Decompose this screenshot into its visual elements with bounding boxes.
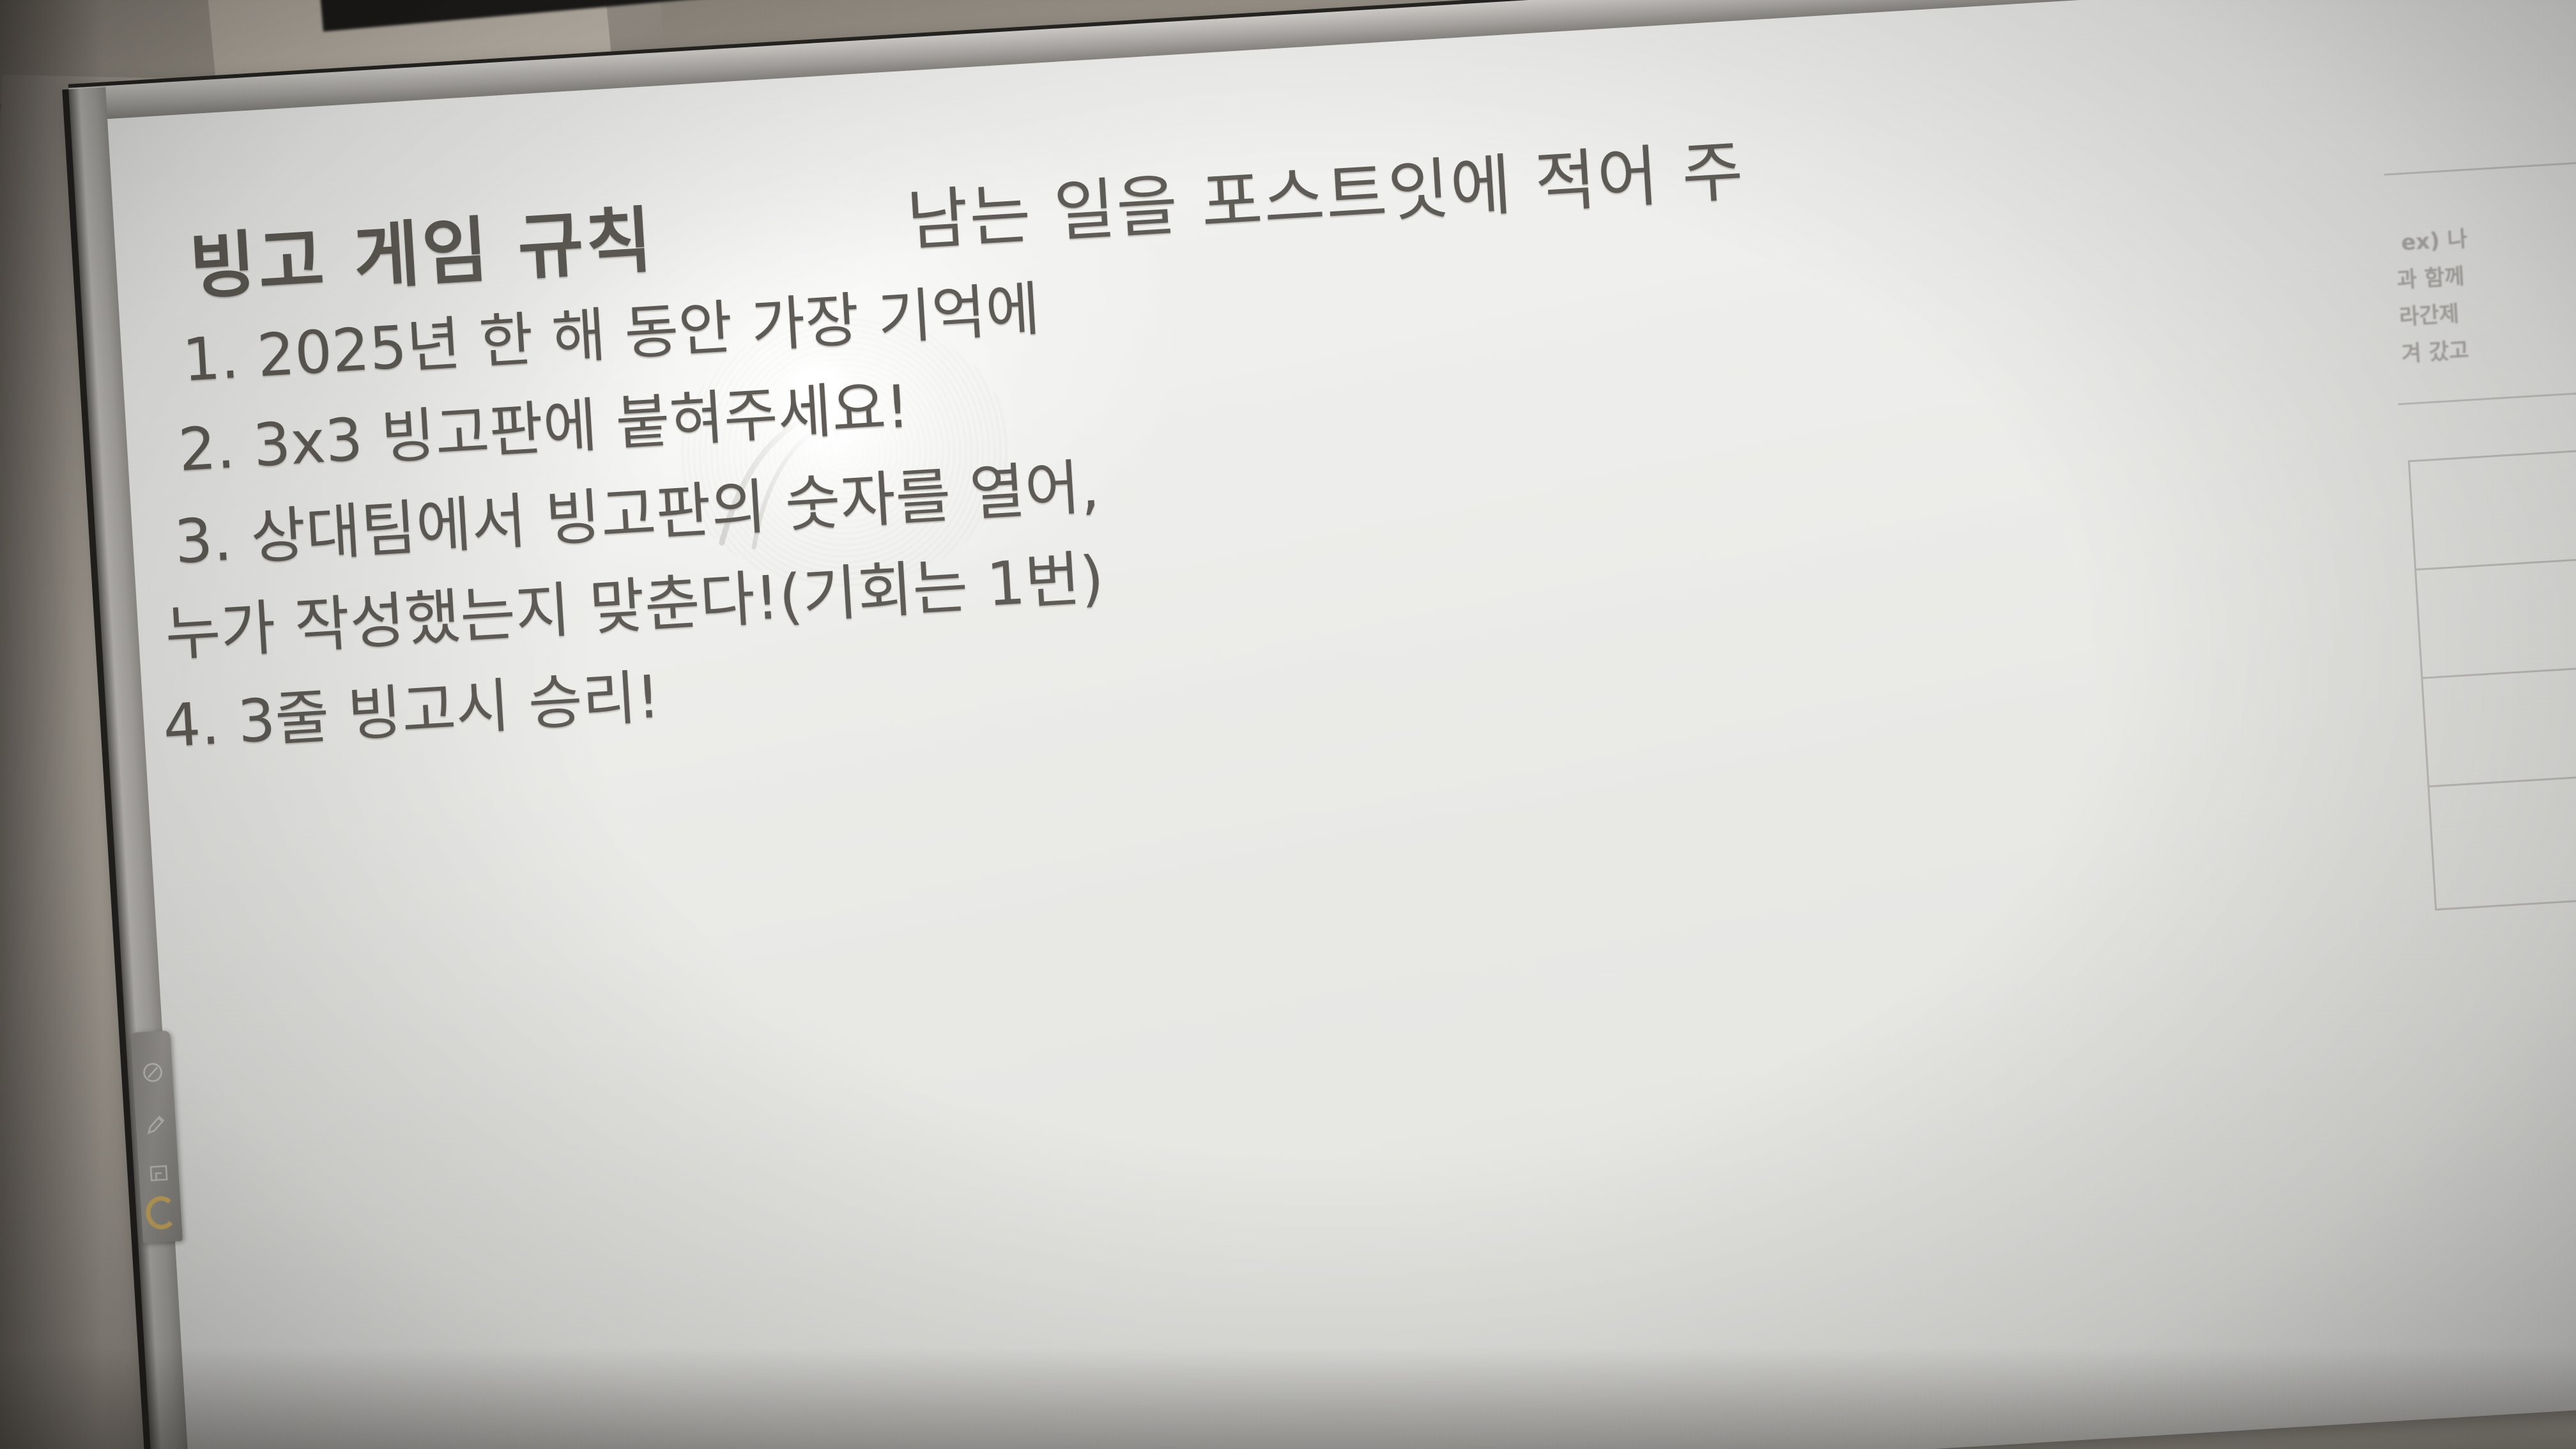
board-text-block: 빙고 게임 규칙 남는 일을 포스트잇에 적어 주 1. 2025년 한 해 동… bbox=[107, 0, 2576, 1449]
board-headline: 남는 일을 포스트잇에 적어 주 bbox=[904, 116, 1747, 263]
whiteboard-photo-scene: 빙고 게임 규칙 남는 일을 포스트잇에 적어 주 1. 2025년 한 해 동… bbox=[0, 0, 2576, 1449]
sheet-line-1: ex) 나 bbox=[2400, 221, 2468, 256]
status-led bbox=[145, 1195, 178, 1230]
sheet-line-4: 겨 갔고 bbox=[2400, 332, 2469, 367]
whiteboard: 빙고 게임 규칙 남는 일을 포스트잇에 적어 주 1. 2025년 한 해 동… bbox=[64, 0, 2576, 1449]
eraser-icon[interactable] bbox=[147, 1161, 171, 1185]
sheet-line-2: 과 함께 bbox=[2396, 259, 2465, 294]
sheet-divider-mid bbox=[2398, 387, 2576, 405]
power-icon[interactable] bbox=[141, 1061, 165, 1085]
sheet-line-3: 라간제 bbox=[2398, 296, 2460, 331]
pen-icon[interactable] bbox=[144, 1112, 168, 1137]
whiteboard-surface: 빙고 게임 규칙 남는 일을 포스트잇에 적어 주 1. 2025년 한 해 동… bbox=[107, 0, 2576, 1449]
